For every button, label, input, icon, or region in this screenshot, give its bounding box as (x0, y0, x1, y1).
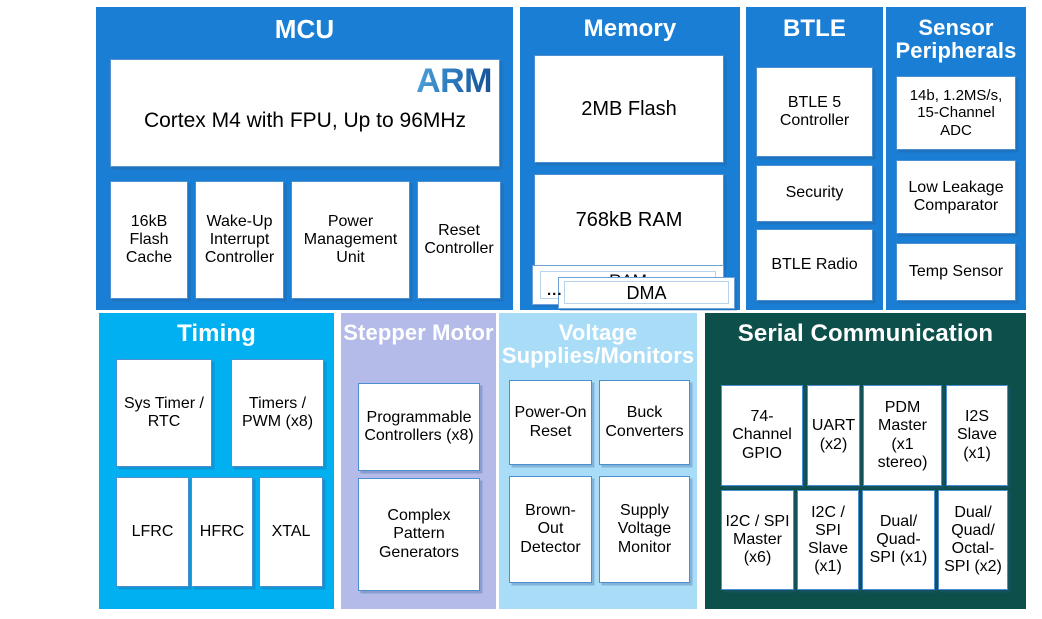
block-lfrc-label: LFRC (129, 523, 177, 541)
arm-logo: ARM (416, 62, 492, 101)
block-power-on-reset-label: Power-On Reset (510, 404, 591, 440)
block-btle-5-controller: BTLE 5 Controller (756, 67, 873, 157)
block-programmable-controllers: Programmable Controllers (x8) (358, 383, 480, 471)
block-security: Security (756, 165, 873, 222)
panel-stepper-motor-title: Stepper Motor (341, 313, 496, 344)
block-pdm-master: PDM Master (x1 stereo) (863, 385, 942, 486)
block-diagram: MCU ARM Cortex M4 with FPU, Up to 96MHz … (0, 0, 1042, 619)
block-sys-timer-rtc: Sys Timer / RTC (116, 359, 212, 467)
block-btle-radio-label: BTLE Radio (768, 256, 860, 274)
block-supply-voltage-monitor-label: Supply Voltage Monitor (600, 502, 689, 557)
panel-mcu-title: MCU (96, 7, 513, 44)
panel-sensor-peripherals-title: Sensor Peripherals (886, 7, 1026, 63)
block-brown-out-detector-label: Brown-Out Detector (510, 502, 591, 557)
block-ram-memory-label: 768kB RAM (573, 209, 686, 232)
cpu-label: Cortex M4 with FPU, Up to 96MHz (111, 109, 499, 133)
panel-btle: BTLE BTLE 5 Controller Security BTLE Rad… (746, 7, 883, 310)
block-complex-pattern-generators: Complex Pattern Generators (358, 478, 480, 591)
block-hfrc: HFRC (191, 477, 253, 587)
block-gpio: 74-Channel GPIO (721, 385, 803, 486)
block-gpio-label: 74-Channel GPIO (722, 408, 802, 463)
block-hfrc-label: HFRC (197, 523, 247, 541)
block-power-on-reset: Power-On Reset (509, 380, 592, 465)
panel-timing-title: Timing (99, 313, 334, 346)
block-adc-label: 14b, 1.2MS/s, 15-Channel ADC (897, 87, 1015, 138)
block-flash-memory: 2MB Flash (534, 55, 724, 163)
block-i2s-slave-label: I2S Slave (x1) (947, 408, 1007, 463)
block-ram-memory: 768kB RAM (534, 174, 724, 267)
block-flash-cache-label: 16kB Flash Cache (111, 213, 187, 268)
block-security-label: Security (783, 184, 847, 202)
block-i2s-slave: I2S Slave (x1) (946, 385, 1008, 486)
panel-stepper-motor: Stepper Motor Programmable Controllers (… (341, 313, 496, 609)
block-sys-timer-rtc-label: Sys Timer / RTC (117, 395, 211, 431)
block-flash-memory-label: 2MB Flash (578, 98, 680, 121)
block-power-management-unit: Power Management Unit (291, 181, 410, 299)
block-wake-up-interrupt-controller: Wake-Up Interrupt Controller (195, 181, 284, 299)
panel-voltage-supplies-monitors-title: Voltage Supplies/Monitors (499, 313, 697, 368)
block-i2c-spi-slave-label: I2C / SPI Slave (x1) (798, 504, 858, 577)
block-wake-up-interrupt-controller-label: Wake-Up Interrupt Controller (196, 213, 283, 268)
block-buck-converters: Buck Converters (599, 380, 690, 465)
block-dual-quad-spi-label: Dual/ Quad-SPI (x1) (863, 513, 934, 568)
panel-btle-title: BTLE (746, 7, 883, 41)
panel-memory-title: Memory (520, 7, 740, 41)
block-dual-quad-octal-spi-label: Dual/ Quad/ Octal-SPI (x2) (939, 504, 1007, 577)
block-temp-sensor: Temp Sensor (896, 243, 1016, 301)
dma-inner-outline (564, 281, 729, 304)
block-supply-voltage-monitor: Supply Voltage Monitor (599, 476, 690, 583)
block-pdm-master-label: PDM Master (x1 stereo) (864, 399, 941, 472)
block-brown-out-detector: Brown-Out Detector (509, 476, 592, 583)
block-btle-5-controller-label: BTLE 5 Controller (757, 94, 872, 130)
block-xtal-label: XTAL (269, 523, 314, 541)
block-btle-radio: BTLE Radio (756, 229, 873, 301)
block-low-leakage-comparator-label: Low Leakage Comparator (897, 179, 1015, 215)
block-lfrc: LFRC (116, 477, 189, 587)
ellipsis-indicator: ... (547, 283, 563, 298)
block-reset-controller: Reset Controller (417, 181, 501, 299)
panel-mcu: MCU ARM Cortex M4 with FPU, Up to 96MHz … (96, 7, 513, 310)
block-i2c-spi-master-label: I2C / SPI Master (x6) (722, 513, 793, 568)
block-low-leakage-comparator: Low Leakage Comparator (896, 160, 1016, 234)
block-temp-sensor-label: Temp Sensor (906, 263, 1006, 281)
block-dual-quad-spi: Dual/ Quad-SPI (x1) (862, 490, 935, 590)
cpu-block-arm-cortex: ARM Cortex M4 with FPU, Up to 96MHz (110, 59, 500, 167)
block-reset-controller-label: Reset Controller (418, 222, 500, 258)
block-flash-cache: 16kB Flash Cache (110, 181, 188, 299)
block-timers-pwm: Timers / PWM (x8) (231, 359, 324, 467)
panel-serial-communication-title: Serial Communication (705, 313, 1026, 346)
block-programmable-controllers-label: Programmable Controllers (x8) (359, 409, 479, 445)
block-uart-label: UART (x2) (808, 417, 859, 453)
panel-sensor-peripherals: Sensor Peripherals 14b, 1.2MS/s, 15-Chan… (886, 7, 1026, 310)
panel-voltage-supplies-monitors: Voltage Supplies/Monitors Power-On Reset… (499, 313, 697, 609)
panel-memory: Memory 2MB Flash 768kB RAM RAM ... DMA (520, 7, 740, 310)
block-adc: 14b, 1.2MS/s, 15-Channel ADC (896, 76, 1016, 150)
block-buck-converters-label: Buck Converters (600, 404, 689, 440)
block-dual-quad-octal-spi: Dual/ Quad/ Octal-SPI (x2) (938, 490, 1008, 590)
block-i2c-spi-master: I2C / SPI Master (x6) (721, 490, 794, 590)
block-complex-pattern-generators-label: Complex Pattern Generators (359, 507, 479, 562)
block-i2c-spi-slave: I2C / SPI Slave (x1) (797, 490, 859, 590)
block-uart: UART (x2) (807, 385, 860, 486)
panel-serial-communication: Serial Communication 74-Channel GPIO UAR… (705, 313, 1026, 609)
block-power-management-unit-label: Power Management Unit (292, 213, 409, 268)
block-xtal: XTAL (259, 477, 323, 587)
block-timers-pwm-label: Timers / PWM (x8) (232, 395, 323, 431)
panel-timing: Timing Sys Timer / RTC Timers / PWM (x8)… (99, 313, 334, 609)
